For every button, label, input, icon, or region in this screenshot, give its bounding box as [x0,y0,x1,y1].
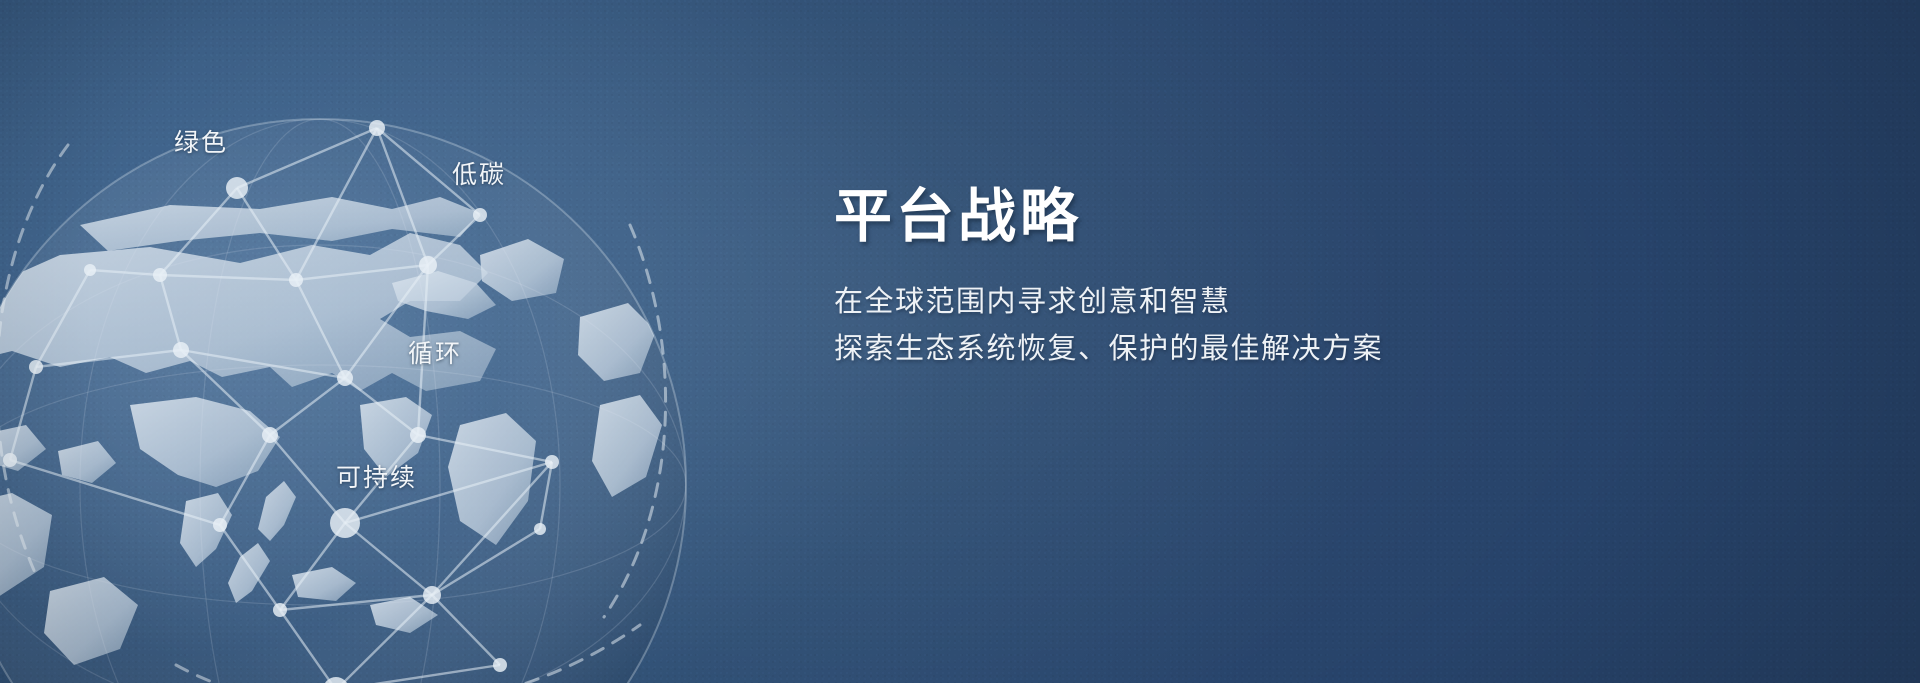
page-title: 平台战略 [834,186,1594,249]
banner-copy-block: 平台战略 在全球范围内寻求创意和智慧 探索生态系统恢复、保护的最佳解决方案 [834,186,1594,373]
world-globe-network-graphic [0,105,820,683]
keyword-label-green: 绿色 [174,123,228,159]
banner-subtitle-line-2: 探索生态系统恢复、保护的最佳解决方案 [834,326,1594,373]
keyword-label-sustainable: 可持续 [336,458,417,494]
banner-subtitle-group: 在全球范围内寻求创意和智慧 探索生态系统恢复、保护的最佳解决方案 [834,279,1594,373]
keyword-label-circular: 循环 [408,334,462,370]
hero-banner: 绿色 低碳 循环 可持续 平台战略 在全球范围内寻求创意和智慧 探索生态系统恢复… [0,0,1920,683]
banner-subtitle-line-1: 在全球范围内寻求创意和智慧 [834,279,1594,326]
keyword-label-low-carbon: 低碳 [452,155,506,191]
